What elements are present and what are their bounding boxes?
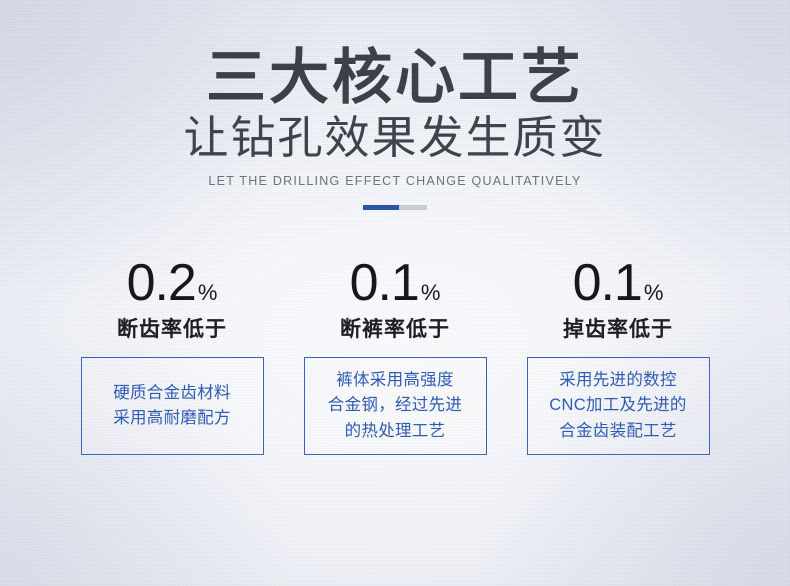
stat-unit-1: %	[198, 282, 218, 304]
divider-track-segment	[399, 205, 427, 210]
stat-column-1: 0.2 % 断齿率低于 硬质合金齿材料 采用高耐磨配方	[81, 257, 264, 455]
stat-number-1: 0.2	[127, 257, 196, 309]
desc-line: 采用高耐磨配方	[113, 406, 231, 431]
stat-value-2: 0.1 %	[350, 257, 441, 309]
stat-unit-3: %	[644, 282, 664, 304]
promo-banner: 三大核心工艺 让钻孔效果发生质变 LET THE DRILLING EFFECT…	[0, 0, 790, 586]
stat-unit-2: %	[421, 282, 441, 304]
section-divider	[363, 205, 427, 210]
stat-label-3: 掉齿率低于	[563, 318, 673, 341]
stat-column-2: 0.1 % 断裤率低于 裤体采用高强度 合金钢，经过先进 的热处理工艺	[304, 257, 487, 455]
desc-line: 裤体采用高强度	[336, 368, 454, 393]
page-tagline-english: LET THE DRILLING EFFECT CHANGE QUALITATI…	[0, 175, 790, 188]
desc-line: 合金齿装配工艺	[559, 419, 677, 444]
stat-label-1: 断齿率低于	[117, 318, 227, 341]
stat-value-1: 0.2 %	[127, 257, 218, 309]
page-subtitle: 让钻孔效果发生质变	[0, 113, 790, 163]
desc-line: 采用先进的数控	[559, 368, 677, 393]
stat-column-3: 0.1 % 掉齿率低于 采用先进的数控 CNC加工及先进的 合金齿装配工艺	[527, 257, 710, 455]
stat-label-2: 断裤率低于	[340, 318, 450, 341]
banner-content: 三大核心工艺 让钻孔效果发生质变 LET THE DRILLING EFFECT…	[0, 0, 790, 586]
desc-line: CNC加工及先进的	[549, 393, 686, 418]
stats-row: 0.2 % 断齿率低于 硬质合金齿材料 采用高耐磨配方 0.1 % 断裤率低于 …	[0, 257, 790, 455]
divider-accent-segment	[363, 205, 399, 210]
stat-number-3: 0.1	[573, 257, 642, 309]
stat-value-3: 0.1 %	[573, 257, 664, 309]
desc-line: 合金钢，经过先进	[328, 393, 462, 418]
stat-description-box-3: 采用先进的数控 CNC加工及先进的 合金齿装配工艺	[527, 357, 710, 455]
stat-description-box-2: 裤体采用高强度 合金钢，经过先进 的热处理工艺	[304, 357, 487, 455]
page-title: 三大核心工艺	[0, 48, 790, 108]
desc-line: 硬质合金齿材料	[113, 381, 231, 406]
stat-number-2: 0.1	[350, 257, 419, 309]
banner-header: 三大核心工艺 让钻孔效果发生质变 LET THE DRILLING EFFECT…	[0, 0, 790, 210]
desc-line: 的热处理工艺	[345, 419, 446, 444]
stat-description-box-1: 硬质合金齿材料 采用高耐磨配方	[81, 357, 264, 455]
